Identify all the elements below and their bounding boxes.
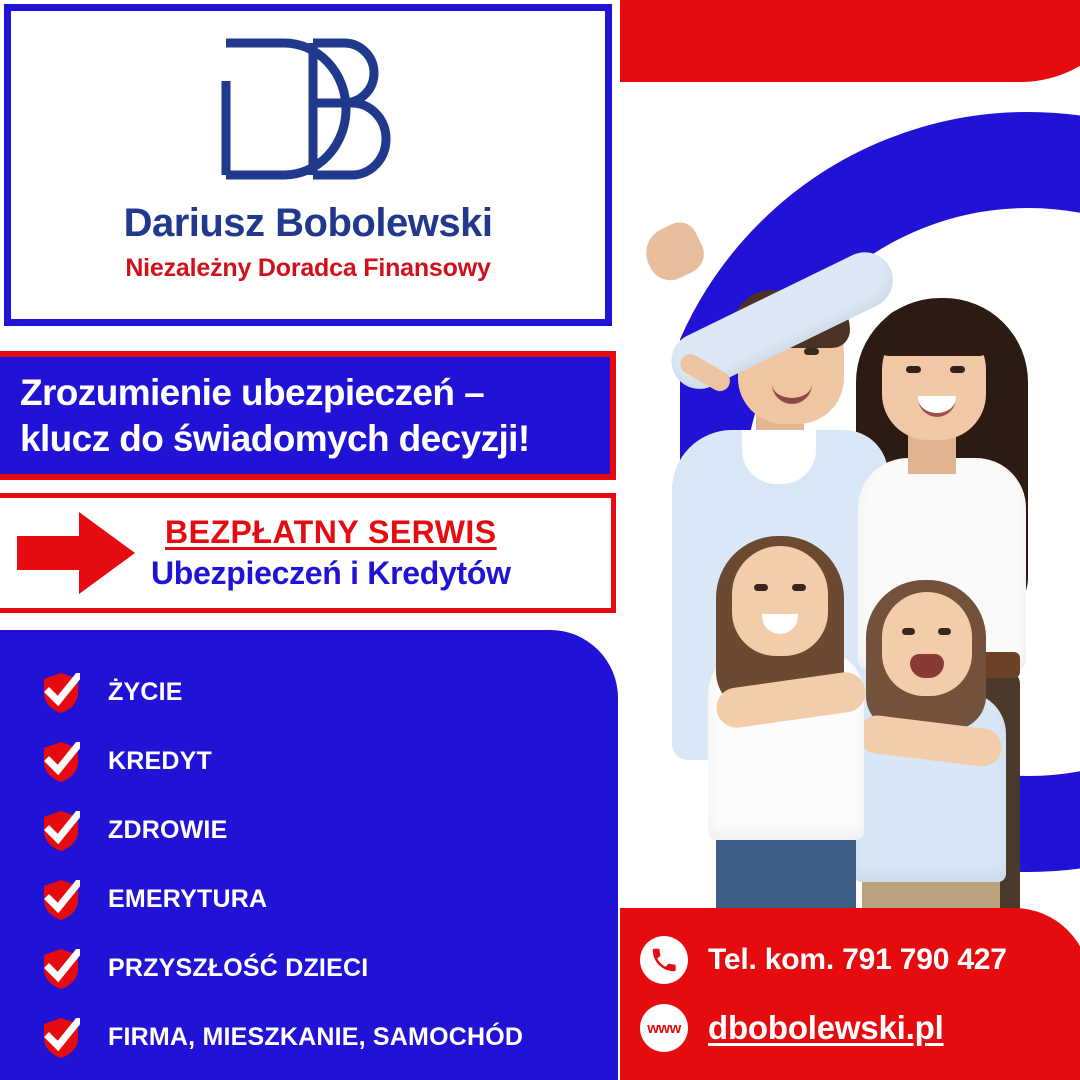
right-arrow-icon	[17, 512, 135, 594]
contact-website-row[interactable]: www dbobolewski.pl	[620, 994, 1080, 1062]
list-item[interactable]: ŻYCIE	[0, 658, 618, 727]
shield-check-icon	[42, 1018, 80, 1058]
list-item[interactable]: PRZYSZŁOŚĆ DZIECI	[0, 934, 618, 1003]
shield-check-icon	[42, 673, 80, 713]
phone-icon	[640, 936, 688, 984]
boy-head	[882, 592, 972, 696]
shield-check-icon	[42, 880, 80, 920]
headline-line-1: Zrozumienie ubezpieczeń –	[20, 370, 610, 416]
list-item-label: PRZYSZŁOŚĆ DZIECI	[108, 954, 368, 983]
db-monogram-icon	[210, 33, 406, 185]
contact-panel: Tel. kom. 791 790 427 www dbobolewski.pl	[620, 908, 1080, 1080]
shield-check-icon	[42, 742, 80, 782]
services-checklist-panel: ŻYCIE KREDYT ZDROWIE EMERYTURA	[0, 630, 618, 1080]
shield-check-icon	[42, 811, 80, 851]
www-badge-label: www	[647, 1020, 681, 1037]
headline-banner: Zrozumienie ubezpieczeń – klucz do świad…	[0, 351, 616, 480]
logo-subtitle: Niezależny Doradca Finansowy	[125, 254, 490, 283]
girl-eye-left	[754, 584, 768, 591]
list-item-label: ZDROWIE	[108, 816, 227, 845]
free-service-title: BEZPŁATNY SERWIS	[165, 514, 497, 551]
shield-check-icon	[42, 949, 80, 989]
decor-red-top-shape	[620, 0, 1080, 82]
list-item-label: ŻYCIE	[108, 678, 183, 707]
list-item-label: EMERYTURA	[108, 885, 267, 914]
list-item[interactable]: KREDYT	[0, 727, 618, 796]
free-service-box: BEZPŁATNY SERWIS Ubezpieczeń i Kredytów	[0, 493, 616, 613]
boy-eye-right	[938, 628, 951, 635]
poster-canvas: Dariusz Bobolewski Niezależny Doradca Fi…	[0, 0, 1080, 1080]
list-item-label: KREDYT	[108, 747, 212, 776]
headline-line-2: klucz do świadomych decyzji!	[20, 416, 610, 462]
list-item[interactable]: EMERYTURA	[0, 865, 618, 934]
mother-eye-right	[950, 366, 965, 373]
boy-mouth	[910, 654, 944, 678]
phone-number: Tel. kom. 791 790 427	[708, 943, 1007, 977]
list-item[interactable]: ZDROWIE	[0, 796, 618, 865]
logo-card: Dariusz Bobolewski Niezależny Doradca Fi…	[4, 4, 612, 326]
boy-eye-left	[902, 628, 915, 635]
father-hand	[637, 216, 710, 287]
free-service-subtitle: Ubezpieczeń i Kredytów	[151, 555, 511, 592]
family-photo	[620, 180, 1080, 920]
mother-bangs	[876, 306, 992, 356]
list-item-label: FIRMA, MIESZKANIE, SAMOCHÓD	[108, 1023, 523, 1052]
mother-eye-left	[906, 366, 921, 373]
girl-eye-right	[792, 584, 806, 591]
father-eye-right	[804, 348, 819, 355]
father-pointing-finger	[677, 350, 734, 394]
logo-name: Dariusz Bobolewski	[124, 201, 493, 246]
website-link[interactable]: dbobolewski.pl	[708, 1009, 944, 1047]
list-item[interactable]: FIRMA, MIESZKANIE, SAMOCHÓD	[0, 1003, 618, 1072]
girl-head	[732, 546, 828, 656]
www-icon: www	[640, 1004, 688, 1052]
contact-phone-row[interactable]: Tel. kom. 791 790 427	[620, 926, 1080, 994]
